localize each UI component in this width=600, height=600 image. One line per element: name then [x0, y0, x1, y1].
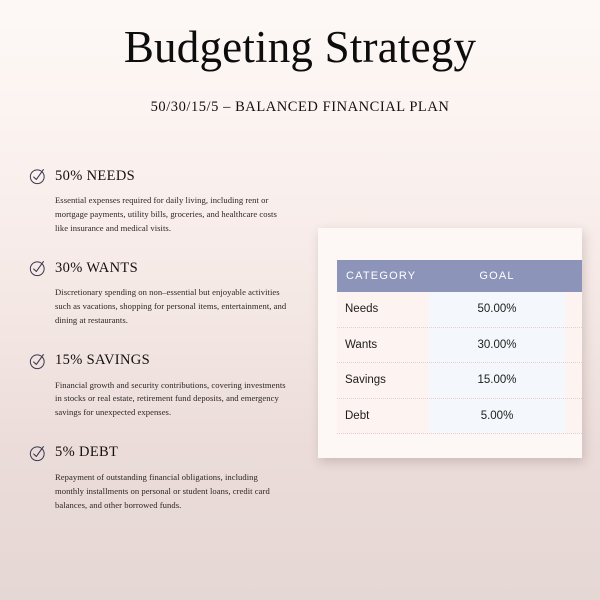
table-row: Debt 5.00% — [337, 399, 582, 435]
list-item: 50% NEEDS Essential expenses required fo… — [29, 166, 289, 236]
slide-canvas: Budgeting Strategy 50/30/15/5 – BALANCED… — [0, 0, 600, 600]
goal-table: CATEGORY GOAL Needs 50.00% Wants 30.00% … — [337, 260, 582, 458]
list-item: 15% SAVINGS Financial growth and securit… — [29, 351, 289, 421]
list-item-title: 30% WANTS — [55, 260, 138, 277]
cell-goal: 5.00% — [429, 410, 565, 422]
circle-check-icon — [29, 259, 47, 277]
cell-goal: 15.00% — [429, 374, 565, 386]
header: Budgeting Strategy 50/30/15/5 – BALANCED… — [0, 18, 600, 116]
table-footer-spacer — [337, 434, 582, 443]
circle-check-icon — [29, 444, 47, 462]
cell-goal: 30.00% — [429, 339, 565, 351]
cell-category: Debt — [337, 410, 429, 422]
list-item-description: Essential expenses required for daily li… — [55, 194, 287, 236]
list-item-title: 5% DEBT — [55, 444, 118, 461]
goal-table-card: CATEGORY GOAL Needs 50.00% Wants 30.00% … — [318, 228, 582, 458]
cell-category: Needs — [337, 303, 429, 315]
circle-check-icon — [29, 167, 47, 185]
table-row: Needs 50.00% — [337, 292, 582, 328]
list-item-header: 5% DEBT — [29, 443, 289, 463]
list-item-title: 50% NEEDS — [55, 168, 135, 185]
list-item: 30% WANTS Discretionary spending on non–… — [29, 258, 289, 328]
cell-goal: 50.00% — [429, 303, 565, 315]
circle-check-icon — [29, 352, 47, 370]
table-row: Wants 30.00% — [337, 328, 582, 364]
cell-category: Savings — [337, 374, 429, 386]
table-header-row: CATEGORY GOAL — [337, 260, 582, 292]
column-header-category: CATEGORY — [337, 270, 429, 282]
list-item-header: 30% WANTS — [29, 258, 289, 278]
list-item-title: 15% SAVINGS — [55, 352, 150, 369]
list-item: 5% DEBT Repayment of outstanding financi… — [29, 443, 289, 513]
list-item-header: 50% NEEDS — [29, 166, 289, 186]
list-item-header: 15% SAVINGS — [29, 351, 289, 371]
list-item-description: Repayment of outstanding financial oblig… — [55, 471, 287, 513]
list-item-description: Discretionary spending on non–essential … — [55, 286, 287, 328]
table-row: Savings 15.00% — [337, 363, 582, 399]
page-subtitle: 50/30/15/5 – BALANCED FINANCIAL PLAN — [0, 99, 600, 116]
list-item-description: Financial growth and security contributi… — [55, 379, 287, 421]
page-title: Budgeting Strategy — [0, 18, 600, 71]
breakdown-list: 50% NEEDS Essential expenses required fo… — [29, 166, 289, 535]
cell-category: Wants — [337, 339, 429, 351]
column-header-goal: GOAL — [429, 270, 565, 282]
